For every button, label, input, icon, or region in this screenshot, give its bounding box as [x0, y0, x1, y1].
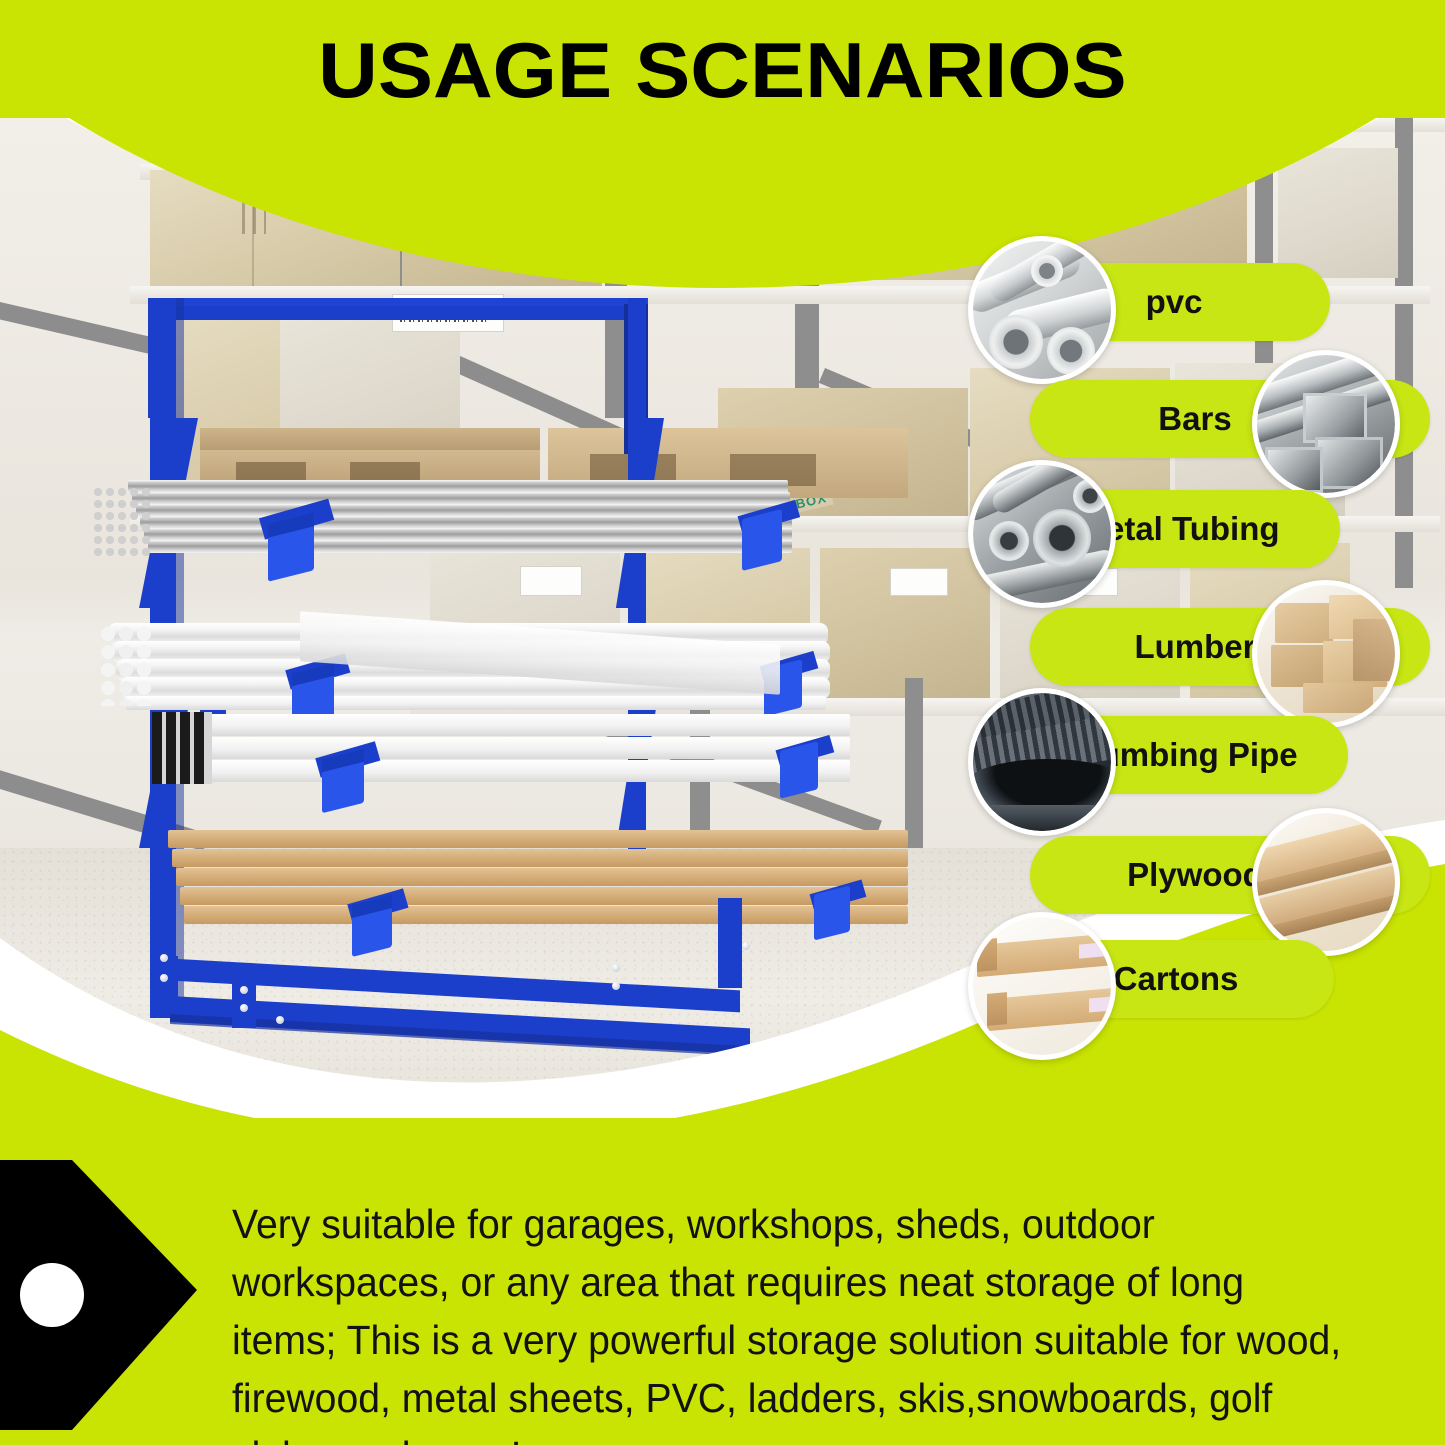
plumbing-pipe-thumbnail: [968, 688, 1116, 836]
scenario-label: Bars: [1158, 400, 1231, 438]
scenario-list: pvc Bars: [0, 118, 1445, 1118]
scenario-label: Lumber: [1134, 628, 1255, 666]
infographic-canvas: CHINA BOX CHINA BOX: [0, 0, 1445, 1445]
metal-tubing-thumbnail: [968, 460, 1116, 608]
scenario-label: pvc: [1146, 283, 1203, 321]
scenario-label: Cartons: [1114, 960, 1239, 998]
metal-bars-thumbnail: [1252, 350, 1400, 498]
description-band: Very suitable for garages, workshops, sh…: [0, 1115, 1445, 1445]
plywood-thumbnail: [1252, 808, 1400, 956]
chevron-tag-icon: [0, 1160, 202, 1430]
scenario-label: Plywood: [1127, 856, 1263, 894]
description-text: Very suitable for garages, workshops, sh…: [232, 1195, 1354, 1445]
lumber-thumbnail: [1252, 580, 1400, 728]
title-banner: USAGE SCENARIOS: [0, 0, 1445, 140]
page-title: USAGE SCENARIOS: [318, 31, 1127, 109]
pvc-pipes-thumbnail: [968, 236, 1116, 384]
cartons-thumbnail: [968, 912, 1116, 1060]
